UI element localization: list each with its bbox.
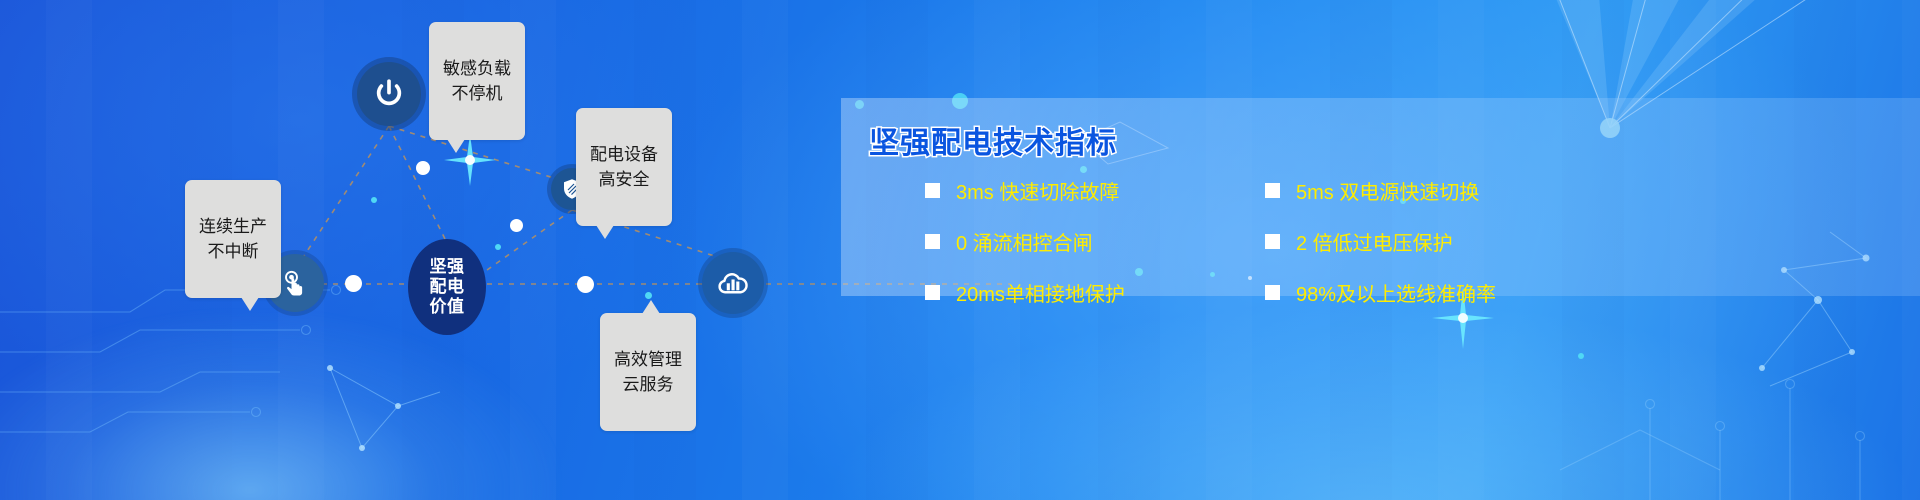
- spec-item: 5ms 双电源快速切换: [1265, 176, 1605, 205]
- accent-dot: [510, 219, 523, 232]
- accent-dot: [645, 292, 652, 299]
- spec-text: 0 涌流相控合闸: [956, 227, 1093, 256]
- spec-item: 2 倍低过电压保护: [1265, 227, 1605, 256]
- banner-root: 坚强 配电 价值 敏感负载 不停机 配电设备 高安全 连续生产 不中断 高效管理…: [0, 0, 1920, 500]
- center-value-label: 坚强 配电 价值: [427, 257, 467, 317]
- accent-dot: [577, 276, 594, 293]
- node-power[interactable]: [357, 62, 421, 126]
- square-bullet-icon: [1265, 234, 1280, 249]
- callout-text: 配电设备 高安全: [590, 145, 658, 189]
- callout-text: 高效管理 云服务: [614, 350, 682, 394]
- callout-tail: [596, 225, 614, 239]
- callout-equipment-safety: 配电设备 高安全: [576, 108, 672, 226]
- accent-dot: [495, 244, 501, 250]
- spec-item: 20ms单相接地保护: [925, 278, 1265, 307]
- square-bullet-icon: [1265, 285, 1280, 300]
- square-bullet-icon: [925, 234, 940, 249]
- square-bullet-icon: [925, 183, 940, 198]
- square-bullet-icon: [1265, 183, 1280, 198]
- spec-item: 98%及以上选线准确率: [1265, 278, 1605, 307]
- callout-text: 敏感负载 不停机: [443, 59, 511, 103]
- accent-dot: [1578, 353, 1584, 359]
- callout-tail: [241, 297, 259, 311]
- accent-dot: [371, 197, 377, 203]
- callout-cloud-service: 高效管理 云服务: [600, 313, 696, 431]
- square-bullet-icon: [925, 285, 940, 300]
- callout-tail: [447, 139, 465, 153]
- callout-continuous-production: 连续生产 不中断: [185, 180, 281, 298]
- spec-text: 3ms 快速切除故障: [956, 176, 1119, 205]
- touch-hand-icon: [280, 268, 310, 298]
- center-value-node: 坚强 配电 价值: [408, 239, 486, 335]
- callout-tail: [642, 300, 660, 314]
- cloud-bar-chart-icon: [714, 264, 752, 302]
- spec-text: 98%及以上选线准确率: [1296, 278, 1496, 307]
- specs-title: 坚强配电技术指标: [869, 118, 1117, 162]
- spec-text: 20ms单相接地保护: [956, 278, 1125, 307]
- callout-sensitive-load: 敏感负载 不停机: [429, 22, 525, 140]
- spec-text: 5ms 双电源快速切换: [1296, 176, 1479, 205]
- spec-item: 3ms 快速切除故障: [925, 176, 1265, 205]
- specs-list: 3ms 快速切除故障 5ms 双电源快速切换 0 涌流相控合闸 2 倍低过电压保…: [925, 176, 1885, 307]
- accent-dot: [345, 275, 362, 292]
- accent-dot: [416, 161, 430, 175]
- spec-item: 0 涌流相控合闸: [925, 227, 1265, 256]
- power-icon: [372, 77, 406, 111]
- spec-text: 2 倍低过电压保护: [1296, 227, 1453, 256]
- node-cloud[interactable]: [702, 252, 764, 314]
- callout-text: 连续生产 不中断: [199, 217, 267, 261]
